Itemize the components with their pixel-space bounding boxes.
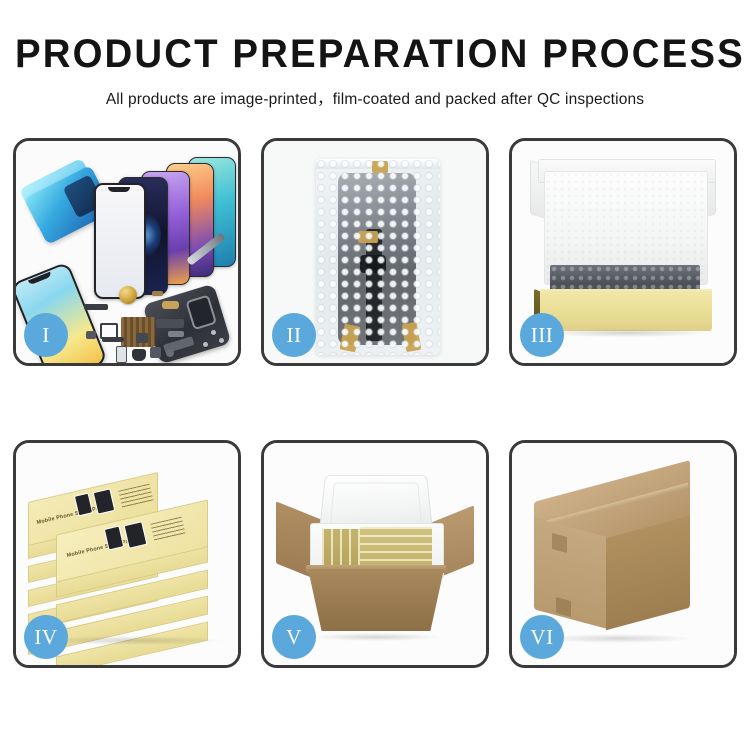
carton-body bbox=[308, 569, 444, 631]
process-steps-grid: I II bbox=[13, 138, 737, 668]
process-step-panel-3: III bbox=[509, 138, 737, 366]
bag-seal-seam bbox=[316, 159, 440, 169]
part-module-icon bbox=[136, 333, 148, 343]
process-step-panel-1: I bbox=[13, 138, 241, 366]
yellow-box-front bbox=[540, 293, 712, 331]
phone-screen-1 bbox=[94, 183, 146, 299]
step-badge-1: I bbox=[24, 313, 68, 357]
part-button-icon bbox=[166, 349, 174, 357]
phone-screen-fan bbox=[112, 157, 232, 287]
page-title: PRODUCT PREPARATION PROCESS bbox=[15, 34, 735, 74]
drop-shadow bbox=[42, 636, 222, 645]
page-header: PRODUCT PREPARATION PROCESS All products… bbox=[0, 0, 750, 109]
part-flex-cable-icon bbox=[102, 337, 124, 342]
screw-icon-3 bbox=[203, 342, 208, 347]
part-bracket-icon bbox=[168, 331, 184, 337]
part-small-gold-icon bbox=[152, 291, 163, 296]
wrapped-flex-cable-icon bbox=[366, 229, 382, 341]
part-strip-icon bbox=[84, 304, 108, 310]
part-battery-icon bbox=[116, 346, 127, 363]
tape-strip-4 bbox=[402, 322, 422, 352]
drop-shadow bbox=[544, 634, 692, 643]
tape-strip-3 bbox=[339, 324, 360, 353]
coil-component-icon bbox=[119, 286, 137, 304]
drop-shadow bbox=[542, 329, 710, 337]
part-camera-icon bbox=[150, 347, 161, 358]
part-ribbon-icon bbox=[156, 319, 184, 328]
drop-shadow bbox=[312, 633, 440, 641]
screw-icon-1 bbox=[211, 330, 216, 335]
wrapped-part-icon bbox=[338, 173, 416, 345]
process-step-panel-4: Mobile Phone Spare Parts Mobile Phone Sp… bbox=[13, 440, 241, 668]
wrapped-connector-icon bbox=[360, 255, 386, 273]
process-step-panel-6: VI bbox=[509, 440, 737, 668]
part-chip-icon bbox=[86, 331, 96, 339]
process-step-panel-5: V bbox=[261, 440, 489, 668]
tape-strip-2 bbox=[358, 231, 378, 243]
step-badge-4: IV bbox=[24, 615, 68, 659]
process-step-panel-2: II bbox=[261, 138, 489, 366]
step-badge-5: V bbox=[272, 615, 316, 659]
bubble-wrap-bag-icon bbox=[316, 159, 440, 355]
step-badge-3: III bbox=[520, 313, 564, 357]
screw-icon-2 bbox=[219, 338, 224, 343]
page-subtitle: All products are image-printed，film-coat… bbox=[0, 87, 750, 109]
part-gold-connector-icon bbox=[162, 301, 179, 309]
step-badge-6: VI bbox=[520, 615, 564, 659]
tape-strip-1 bbox=[372, 161, 388, 173]
step-badge-2: II bbox=[272, 313, 316, 357]
part-speaker-icon bbox=[132, 349, 146, 361]
